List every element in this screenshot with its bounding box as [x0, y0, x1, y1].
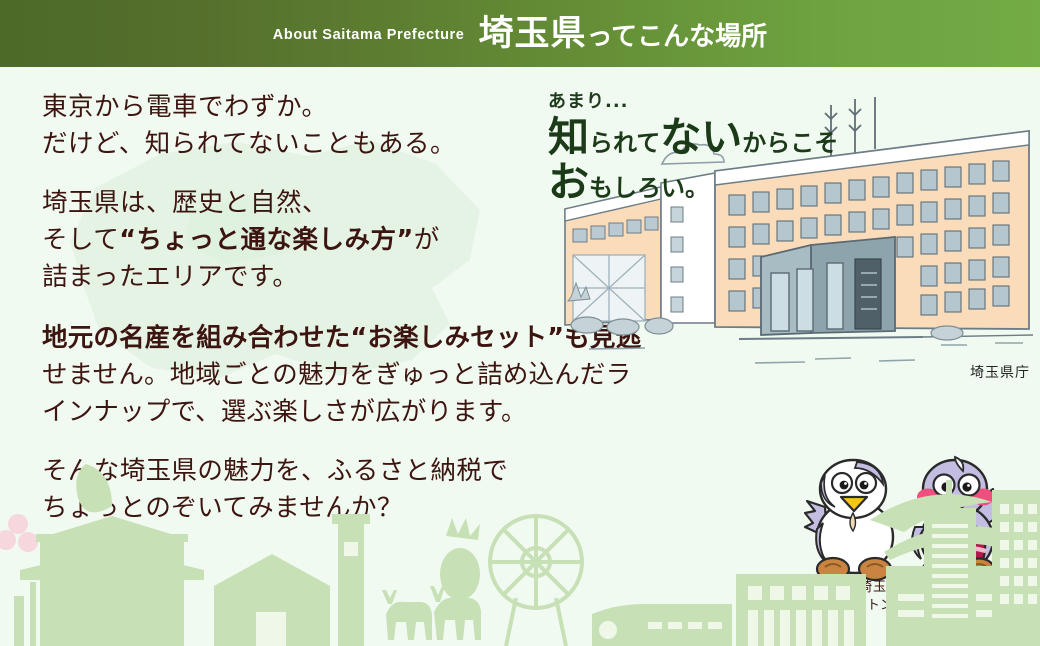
page-title-sub: ってこんな場所 [586, 22, 767, 52]
emphasis-phrase: “ちょっと通な楽しみ方” [119, 225, 414, 255]
saitamacchi-mascot [912, 457, 1011, 582]
page-title-main: 埼玉県 [478, 14, 586, 54]
copy-fragment: 地元の名産を組み合わせた [42, 323, 350, 353]
illustration-block: あまり... 知られてないからこそ おもしろい。 埼玉県庁 [543, 87, 1040, 437]
building-caption: 埼玉県庁 [970, 362, 1030, 382]
page-header: About Saitama Prefecture 埼玉県ってこんな場所 [0, 0, 1040, 67]
kobaton-mascot [805, 460, 893, 580]
body-area: 東京から電車でわずか。 だけど、知られてないこともある。 埼玉県は、歴史と自然、… [0, 67, 1040, 646]
saitama-prefectural-office-icon [543, 87, 1040, 387]
page-title: 埼玉県ってこんな場所 [478, 17, 767, 52]
copy-line: そんな埼玉県の魅力を、ふるさと納税で [42, 453, 787, 490]
mascot-caption-line-1: 埼玉県マスコット [795, 579, 1035, 597]
header-inner: About Saitama Prefecture 埼玉県ってこんな場所 [273, 17, 767, 52]
mascot-caption-line-2: 「コバトン」「さいたまっち」 [795, 597, 1035, 615]
paragraph-4: そんな埼玉県の魅力を、ふるさと納税で ちょっとのぞいてみませんか？ [42, 453, 787, 527]
saitama-prefecture-intro-page: About Saitama Prefecture 埼玉県ってこんな場所 東京から… [0, 0, 1040, 646]
header-eyebrow: About Saitama Prefecture [273, 27, 465, 52]
copy-fragment: が [414, 225, 440, 255]
copy-line: ちょっとのぞいてみませんか？ [42, 490, 787, 527]
copy-fragment: そして [42, 225, 119, 255]
mascot-caption: 埼玉県マスコット 「コバトン」「さいたまっち」 [795, 579, 1035, 614]
emphasis-phrase: “お楽しみセット” [350, 323, 564, 353]
